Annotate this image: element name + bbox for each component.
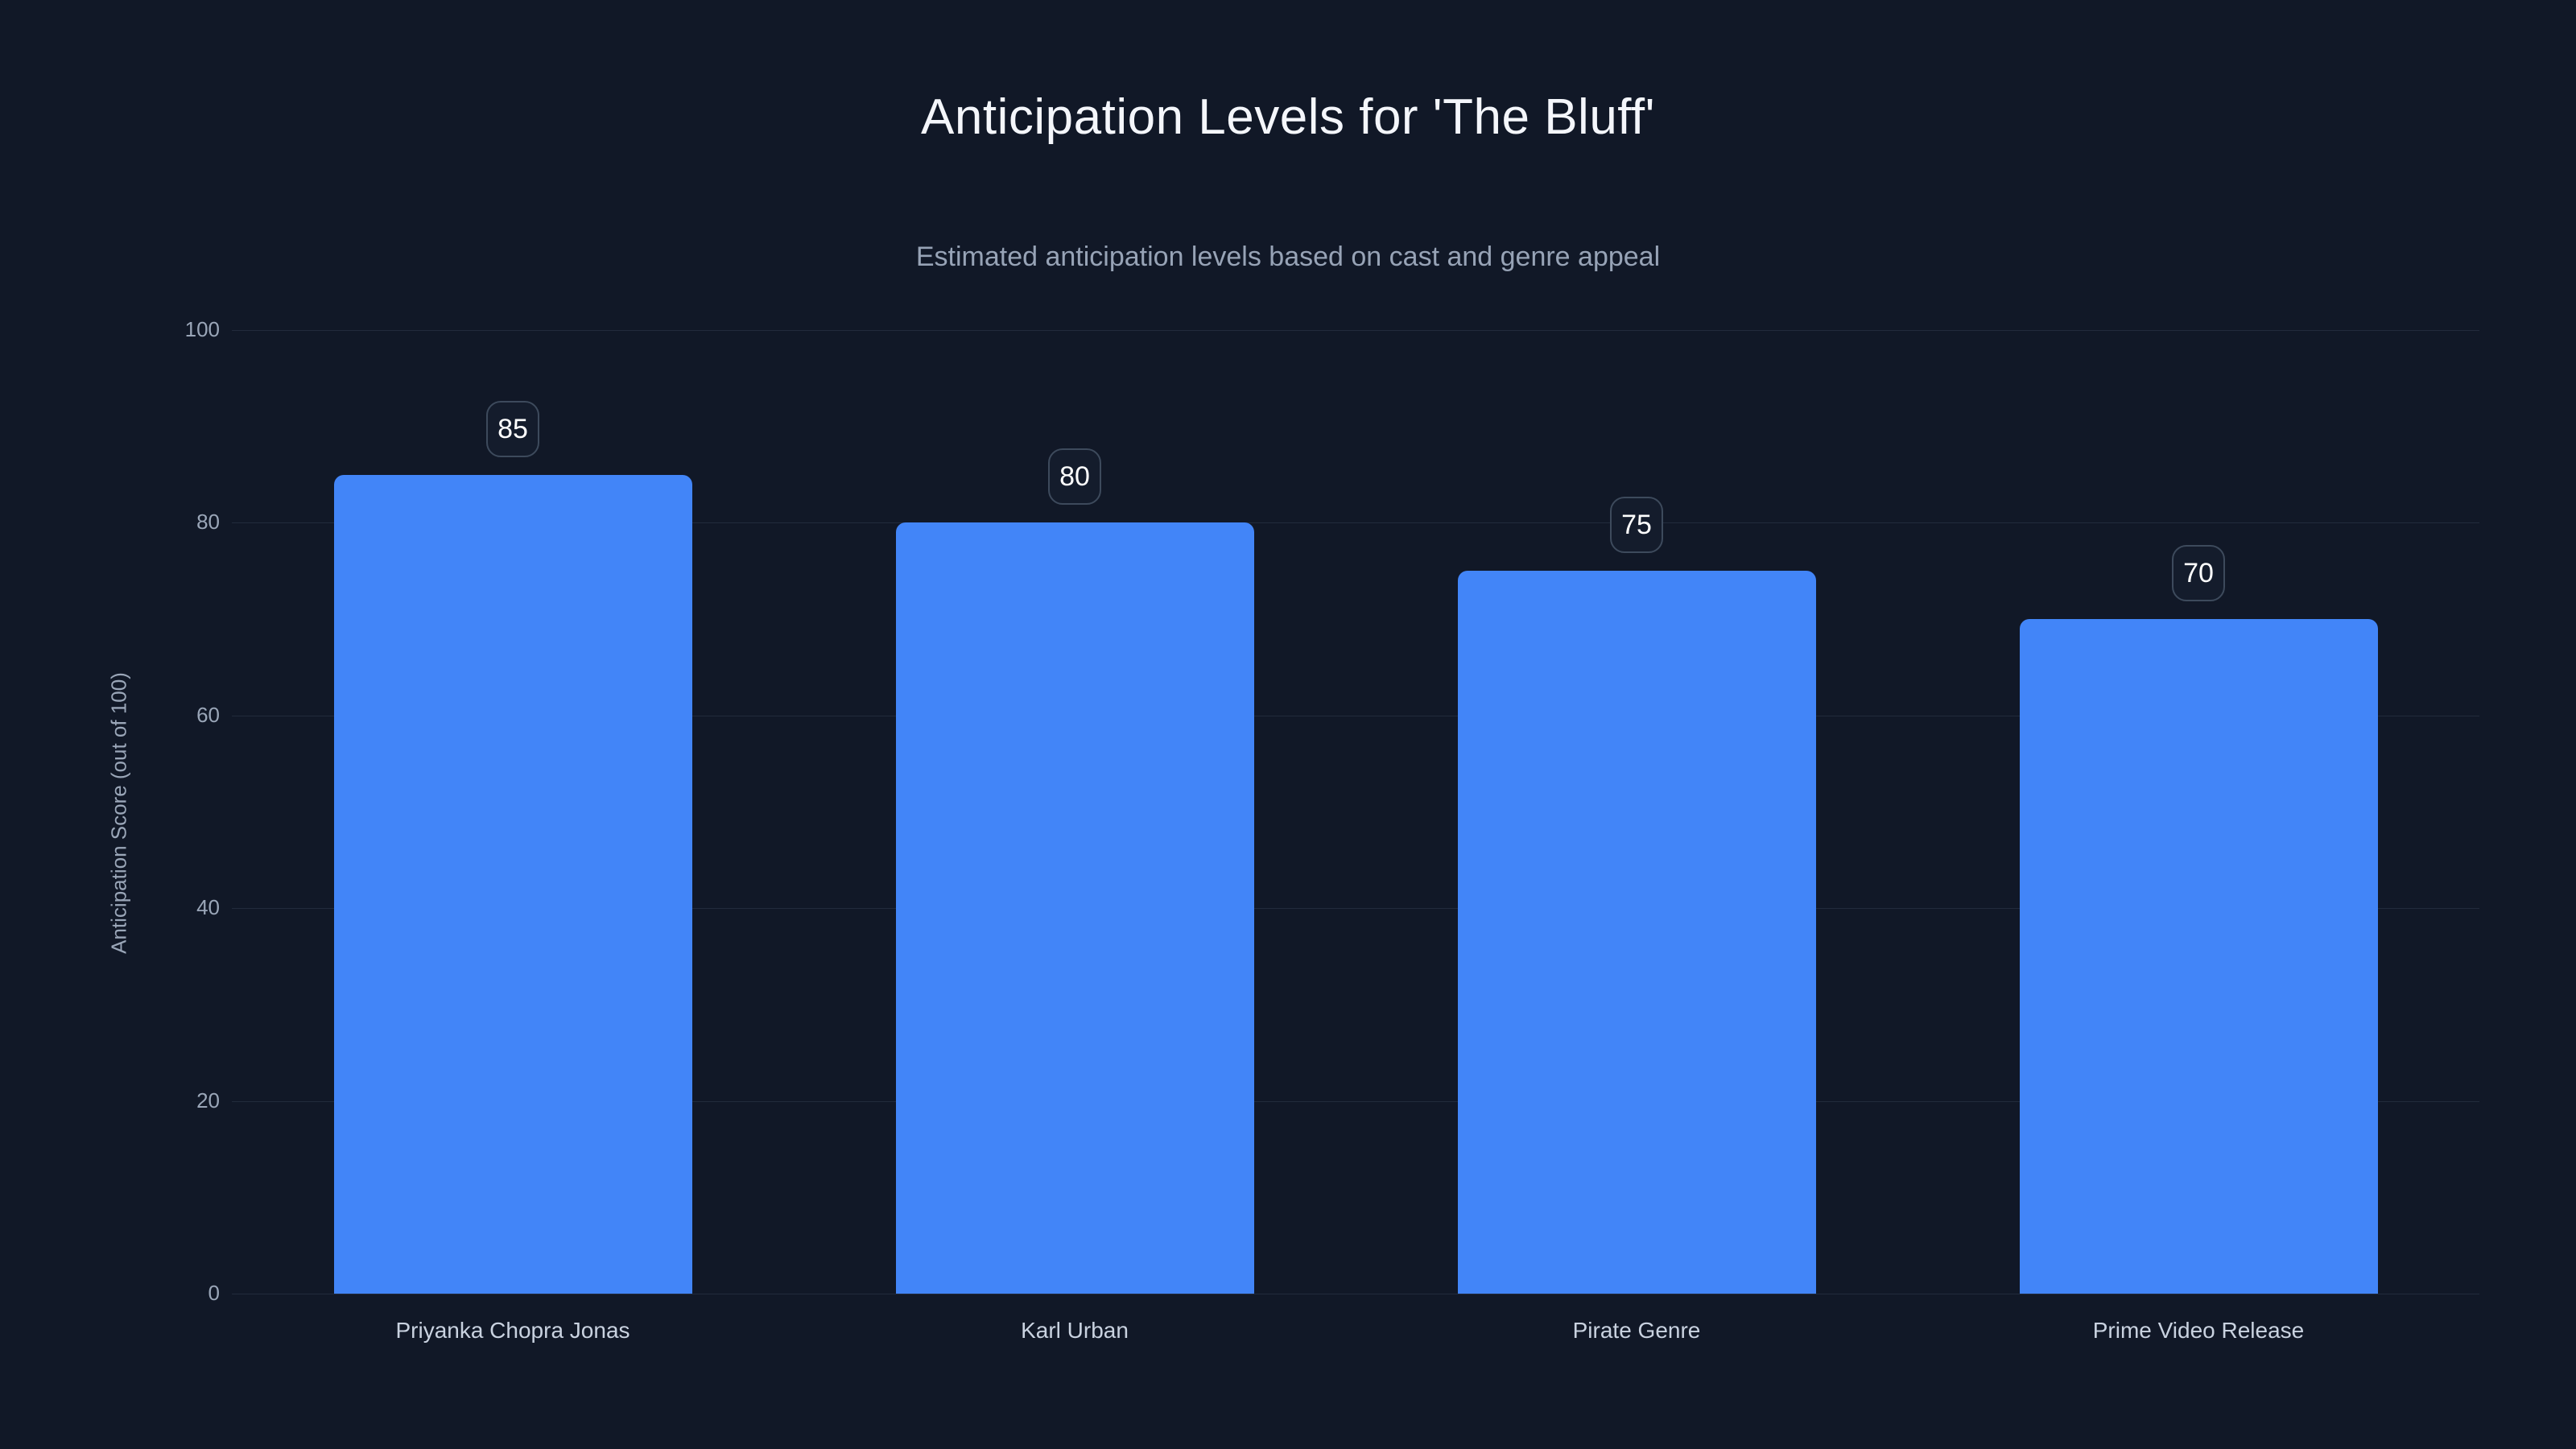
x-axis-category-label: Karl Urban (794, 1318, 1356, 1344)
plot-area (232, 330, 2479, 1294)
gridline (232, 330, 2479, 331)
bar[interactable] (334, 475, 692, 1294)
x-axis-category-label: Priyanka Chopra Jonas (232, 1318, 794, 1344)
bar[interactable] (2020, 619, 2378, 1294)
y-axis-tick-label: 60 (59, 703, 220, 728)
bar-value-badge: 70 (2172, 545, 2225, 601)
y-axis-tick-label: 0 (59, 1281, 220, 1306)
page-title: Anticipation Levels for 'The Bluff' (0, 89, 2576, 146)
y-axis-tick-label: 40 (59, 895, 220, 920)
y-axis-tick-label: 20 (59, 1088, 220, 1113)
y-axis-tick-label: 100 (59, 317, 220, 342)
bar-value-badge: 85 (486, 401, 539, 457)
y-axis-tick-label: 80 (59, 510, 220, 535)
bar[interactable] (1458, 571, 1816, 1294)
x-axis-category-label: Pirate Genre (1356, 1318, 1918, 1344)
chart-subtitle: Estimated anticipation levels based on c… (0, 242, 2576, 273)
bar-value-badge: 80 (1048, 448, 1101, 505)
bar-value-badge: 75 (1610, 497, 1663, 553)
x-axis-category-label: Prime Video Release (1918, 1318, 2479, 1344)
gridline (232, 1294, 2479, 1294)
chart-canvas: Anticipation Levels for 'The Bluff' Esti… (0, 0, 2576, 1449)
bar[interactable] (896, 522, 1254, 1294)
